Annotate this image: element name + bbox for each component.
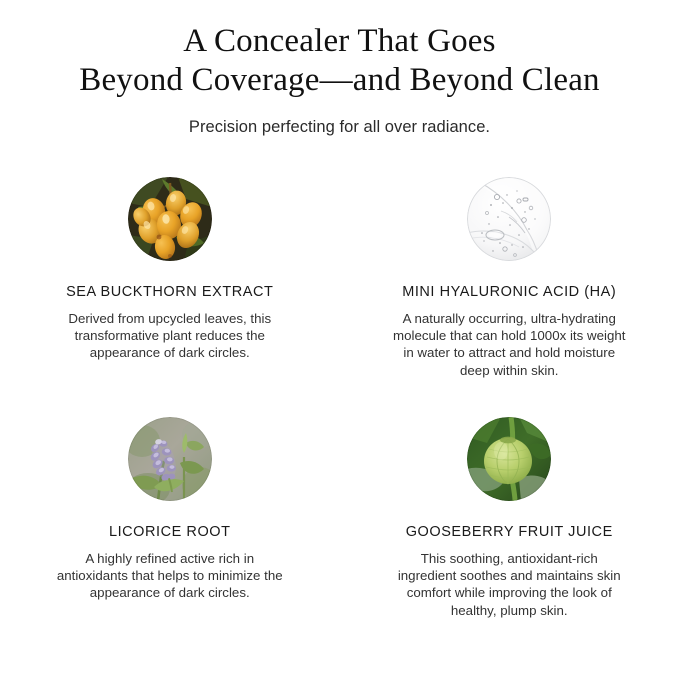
ingredient-description: This soothing, antioxidant-rich ingredie… bbox=[391, 550, 627, 619]
ingredient-description: Derived from upcycled leaves, this trans… bbox=[52, 310, 288, 362]
gooseberry-fruit-photo bbox=[467, 417, 551, 501]
page-title-line-1: A Concealer That Goes bbox=[30, 22, 649, 61]
ingredient-name: SEA BUCKTHORN EXTRACT bbox=[66, 283, 273, 301]
ingredient-name: MINI HYALURONIC ACID (HA) bbox=[402, 283, 616, 301]
page-title: A Concealer That Goes Beyond Coverage—an… bbox=[0, 22, 679, 100]
ingredient-card-gooseberry: GOOSEBERRY FRUIT JUICE This soothing, an… bbox=[340, 406, 679, 646]
ingredient-name: GOOSEBERRY FRUIT JUICE bbox=[406, 523, 613, 541]
ingredient-card-hyaluronic-acid: MINI HYALURONIC ACID (HA) A naturally oc… bbox=[340, 166, 679, 406]
ingredient-benefits-panel: A Concealer That Goes Beyond Coverage—an… bbox=[0, 0, 679, 679]
sea-buckthorn-berries-photo bbox=[128, 177, 212, 261]
page-title-line-2: Beyond Coverage—and Beyond Clean bbox=[30, 61, 649, 100]
ingredient-grid: SEA BUCKTHORN EXTRACT Derived from upcyc… bbox=[0, 166, 679, 646]
header: A Concealer That Goes Beyond Coverage—an… bbox=[0, 0, 679, 137]
page-subtitle: Precision perfecting for all over radian… bbox=[0, 117, 679, 137]
ingredient-description: A highly refined active rich in antioxid… bbox=[52, 550, 288, 602]
licorice-root-flower-photo bbox=[128, 417, 212, 501]
ingredient-card-sea-buckthorn: SEA BUCKTHORN EXTRACT Derived from upcyc… bbox=[0, 166, 340, 406]
ingredient-description: A naturally occurring, ultra-hydrating m… bbox=[391, 310, 627, 379]
ingredient-card-licorice-root: LICORICE ROOT A highly refined active ri… bbox=[0, 406, 340, 646]
hyaluronic-acid-gel-texture-photo bbox=[467, 177, 551, 261]
ingredient-name: LICORICE ROOT bbox=[109, 523, 231, 541]
